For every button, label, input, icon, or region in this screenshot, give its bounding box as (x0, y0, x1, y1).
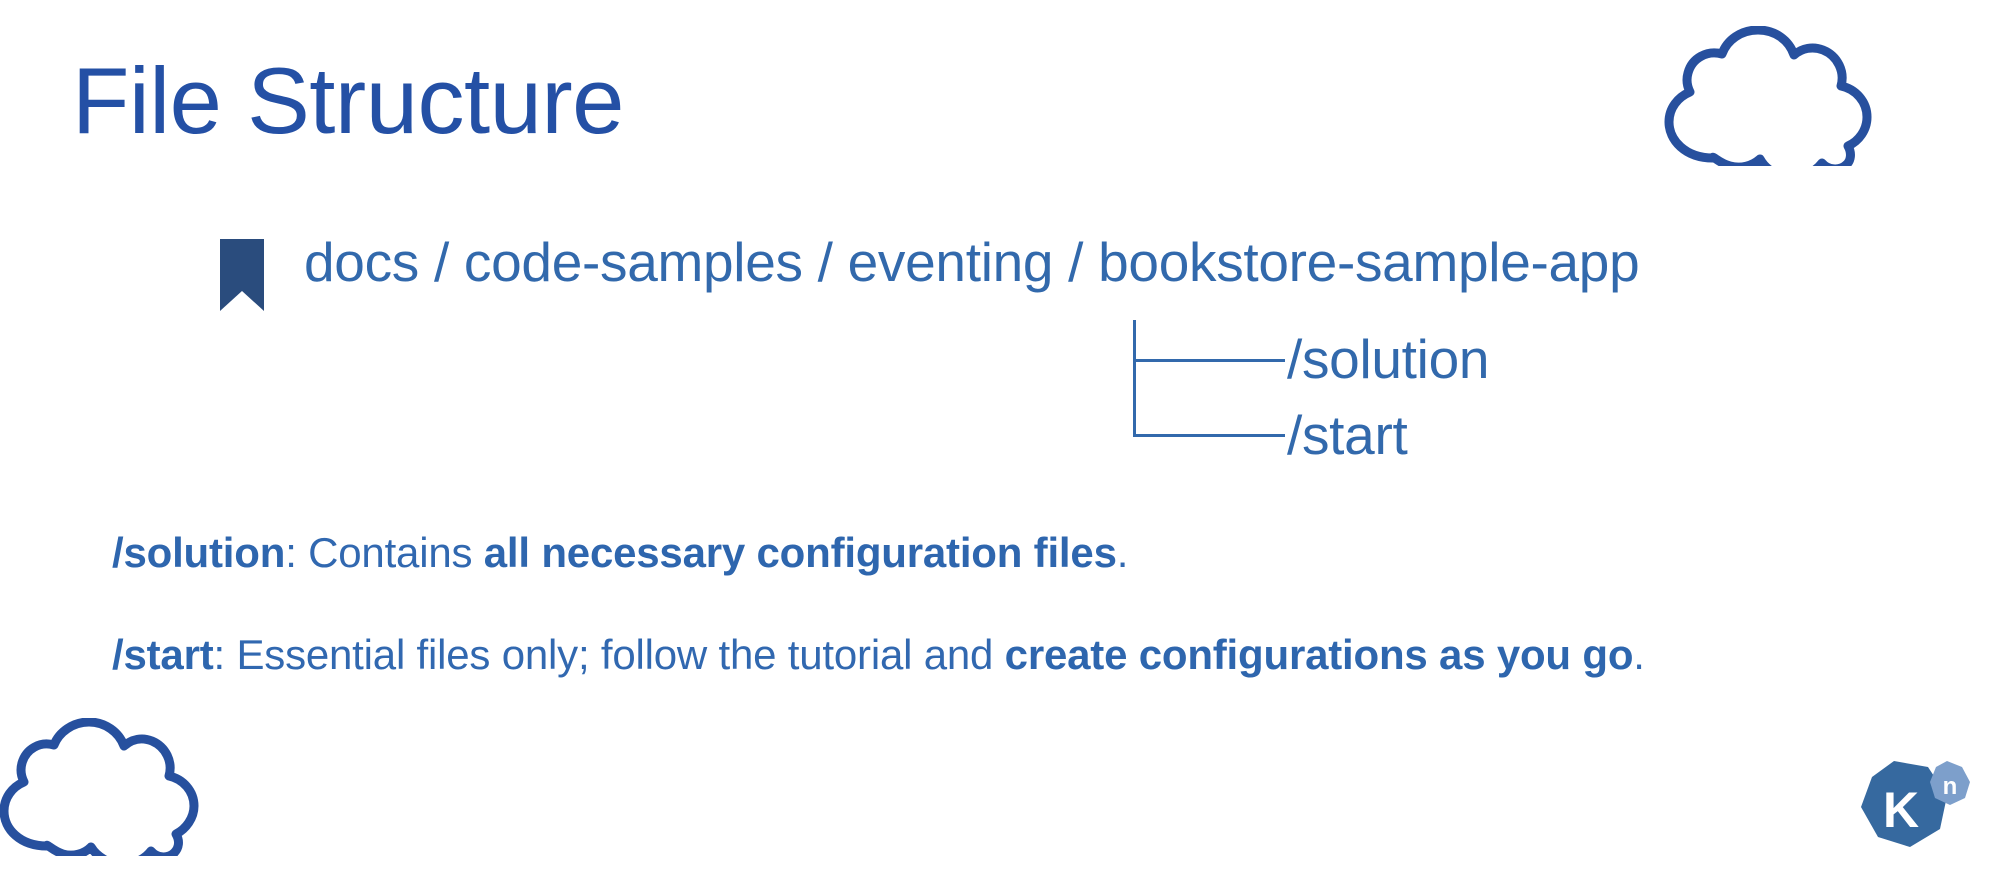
tree-branch-solution: /solution (1133, 320, 1489, 398)
knative-logo-letter-n: n (1943, 773, 1958, 800)
tree-branch-start: /start (1133, 396, 1407, 474)
knative-logo-letter-k: K (1883, 782, 1919, 838)
description-lead-start: /start (112, 631, 214, 678)
knative-logo: K n (1848, 755, 1976, 865)
page-title: File Structure (72, 52, 624, 151)
file-path-text: docs / code-samples / eventing / booksto… (304, 232, 1639, 294)
tree-branch-label-start: /start (1287, 408, 1407, 463)
description-mid-start: : Essential files only; follow the tutor… (214, 631, 1005, 678)
description-emphasis-solution: all necessary configuration files (484, 529, 1117, 576)
description-lead-solution: /solution (112, 529, 285, 576)
description-tail-solution: . (1117, 529, 1128, 576)
cloud-icon (1655, 26, 1885, 166)
tree-branch-label-solution: /solution (1287, 332, 1489, 387)
cloud-icon (0, 718, 217, 856)
description-line-start: /start: Essential files only; follow the… (112, 630, 1645, 680)
description-line-solution: /solution: Contains all necessary config… (112, 528, 1128, 578)
file-path-row: docs / code-samples / eventing / booksto… (218, 232, 1639, 313)
description-mid-solution: : Contains (285, 529, 484, 576)
tree-tee-connector-icon (1133, 320, 1285, 398)
bookmark-icon (218, 237, 266, 313)
description-emphasis-start: create configurations as you go (1005, 631, 1634, 678)
description-tail-start: . (1633, 631, 1644, 678)
tree-ell-connector-icon (1133, 396, 1285, 474)
